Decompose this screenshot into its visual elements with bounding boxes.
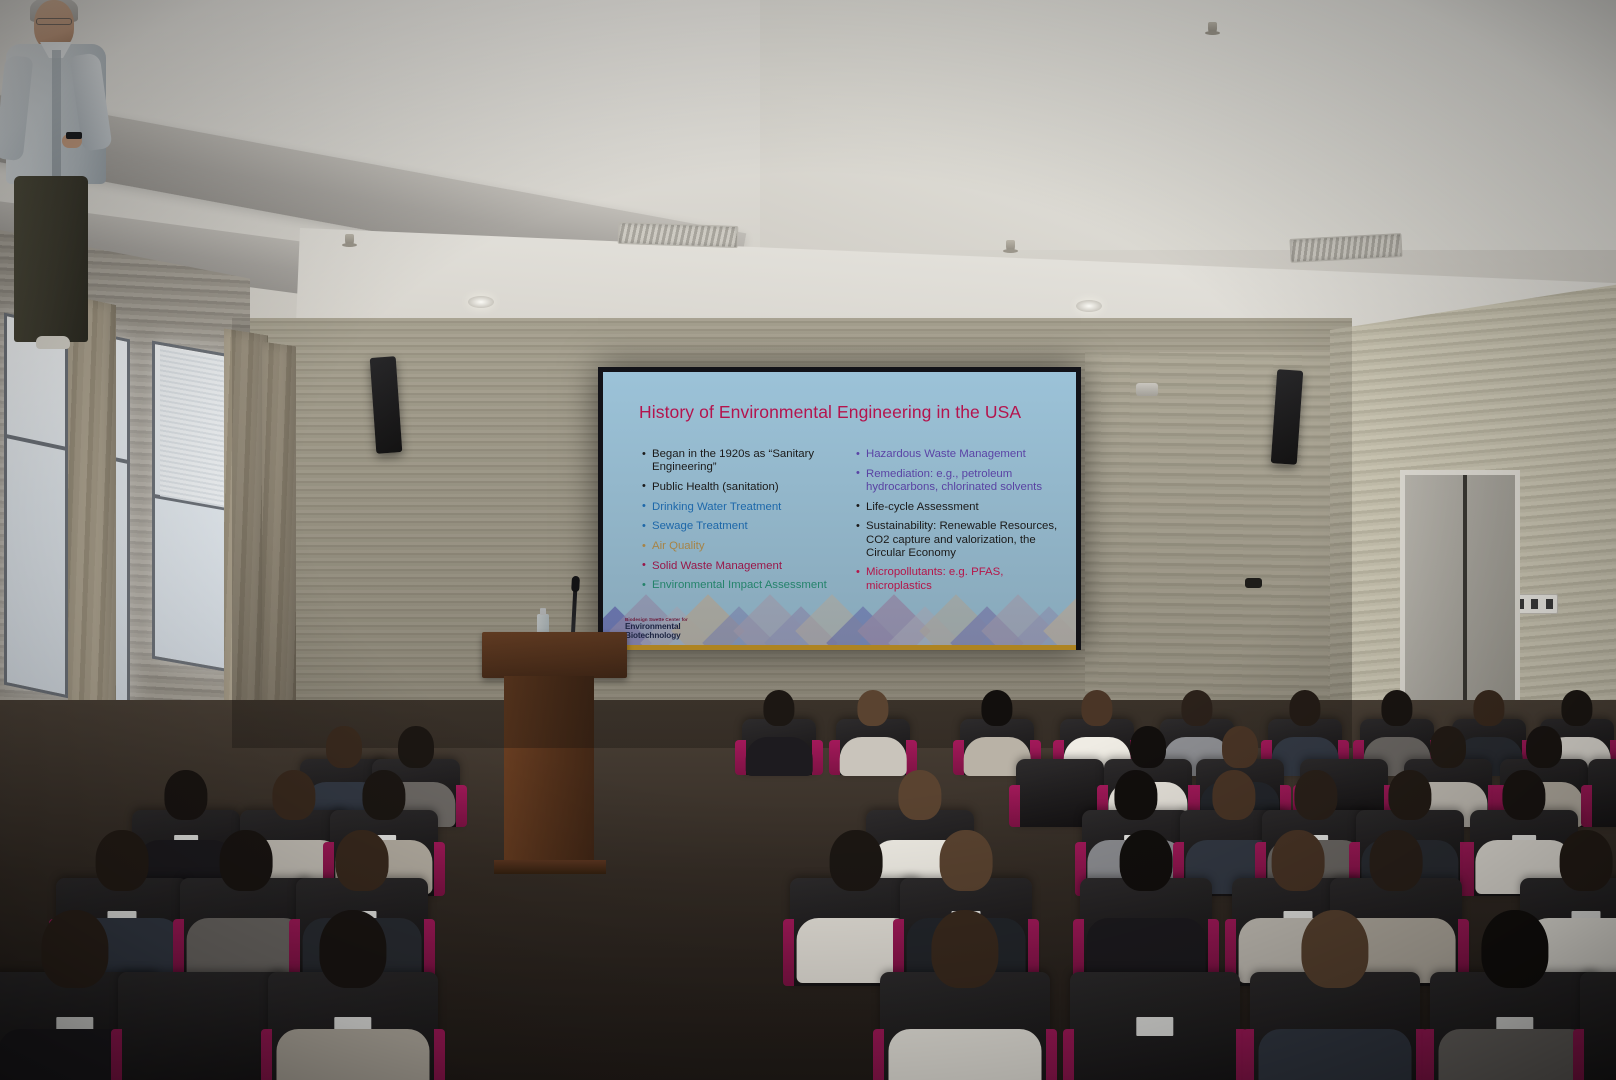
audience-member-head [1502, 770, 1545, 820]
slide-title: History of Environmental Engineering in … [639, 402, 1059, 423]
audience-member-head [1370, 830, 1423, 891]
audience-member-head [398, 726, 434, 768]
podium-base [494, 860, 606, 874]
audience-member-head [1212, 770, 1255, 820]
audience-member [1260, 910, 1410, 1080]
audience-member-shoulders [1438, 1029, 1591, 1080]
fire-sprinkler [1006, 240, 1015, 253]
seat-number-label [1136, 1017, 1173, 1037]
slide-bullet: Sustainability: Renewable Resources, CO2… [855, 520, 1067, 560]
audience-member-head [857, 690, 888, 726]
recessed-downlight [1076, 300, 1102, 312]
slide-bullet: Drinking Water Treatment [641, 501, 857, 514]
window-curtain [68, 295, 116, 735]
slide-bullet: Hazardous Waste Management [855, 448, 1067, 461]
audience-member-head [1560, 830, 1613, 891]
auditorium-seat[interactable] [1588, 759, 1616, 827]
audience-member-head [1473, 690, 1504, 726]
ceiling-panel-right [760, 0, 1616, 250]
slide-footer-bar [603, 645, 1076, 650]
ceiling-air-vent [618, 222, 739, 248]
podium-column [504, 676, 594, 872]
audience-member [1088, 830, 1204, 983]
security-camera [1136, 383, 1158, 396]
auditorium-seat[interactable] [1580, 972, 1616, 1080]
audience-member-head [898, 770, 941, 820]
lecture-hall-scene: History of Environmental Engineering in … [0, 0, 1616, 1080]
slide-bullet: Air Quality [641, 540, 857, 553]
slide-bullet: Began in the 1920s as “Sanitary Engineer… [641, 448, 857, 474]
projection-screen: History of Environmental Engineering in … [598, 367, 1081, 650]
audience-member-head [1081, 690, 1112, 726]
window-blinds [160, 346, 226, 508]
presenter-shoe [36, 336, 70, 349]
audience-member-head [1430, 726, 1466, 768]
presenter-shirt-placket [52, 50, 61, 182]
audience-member [890, 910, 1040, 1080]
audience-member-head [1289, 690, 1320, 726]
audience-member-head [763, 690, 794, 726]
recessed-downlight [468, 296, 494, 308]
audience-member-head [96, 830, 149, 891]
slide-bullets-left: Began in the 1920s as “Sanitary Engineer… [641, 448, 857, 599]
audience-member-head [1481, 910, 1548, 988]
audience-member-head [1272, 830, 1325, 891]
audience-member-head [1381, 690, 1412, 726]
audience-member-head [336, 830, 389, 891]
audience-member-head [220, 830, 273, 891]
audience-member [278, 910, 428, 1080]
podium [482, 632, 627, 872]
audience-member-head [931, 910, 998, 988]
glasses-icon [36, 18, 72, 25]
logo-line-3: Biotechnology [625, 632, 755, 641]
audience-member-head [981, 690, 1012, 726]
slide-bullet: Solid Waste Management [641, 560, 857, 573]
audience-member [746, 690, 811, 776]
podium-top [482, 632, 627, 678]
audience-member-head [1130, 726, 1166, 768]
audience-member-head [164, 770, 207, 820]
audience-member-shoulders [746, 737, 813, 775]
audience-member-shoulders [276, 1029, 429, 1080]
audience-member-shoulders [1258, 1029, 1411, 1080]
audience-member-head [1181, 690, 1212, 726]
audience-member-shoulders [888, 1029, 1041, 1080]
audience-member-head [1301, 910, 1368, 988]
audience-member-head [1526, 726, 1562, 768]
fire-sprinkler [345, 234, 354, 247]
audience-member-head [830, 830, 883, 891]
center-logo: Biodesign Swette Center for Environmenta… [625, 618, 755, 641]
microphone-head [571, 576, 580, 592]
audience-member [840, 690, 905, 776]
audience-member-head [1294, 770, 1337, 820]
audience-member-head [1114, 770, 1157, 820]
slide-bullet: Micropollutants: e.g. PFAS, microplastic… [855, 566, 1067, 592]
auditorium-seat[interactable] [1070, 972, 1240, 1080]
audience-member-head [1120, 830, 1173, 891]
audience-member-head [1561, 690, 1592, 726]
audience-member-head [319, 910, 386, 988]
audience-member-head [1388, 770, 1431, 820]
audience-member-head [362, 770, 405, 820]
slide-bullet: Life-cycle Assessment [855, 501, 1067, 514]
window-curtain [262, 342, 296, 719]
slide-bullet: Remediation: e.g., petroleum hydrocarbon… [855, 468, 1067, 494]
audience-member-head [1222, 726, 1258, 768]
security-camera [1245, 578, 1262, 588]
presenter-legs [14, 176, 88, 342]
presentation-slide: History of Environmental Engineering in … [603, 372, 1076, 645]
audience-member-head [272, 770, 315, 820]
audience-member-head [940, 830, 993, 891]
audience-member-head [326, 726, 362, 768]
audience-member-head [41, 910, 108, 988]
presentation-clicker [66, 132, 82, 139]
slide-bullet: Public Health (sanitation) [641, 481, 857, 494]
fire-sprinkler [1208, 22, 1217, 35]
slide-bullets-right: Hazardous Waste Management Remediation: … [855, 448, 1067, 599]
slide-bullet: Sewage Treatment [641, 520, 857, 533]
audience-member [1440, 910, 1590, 1080]
